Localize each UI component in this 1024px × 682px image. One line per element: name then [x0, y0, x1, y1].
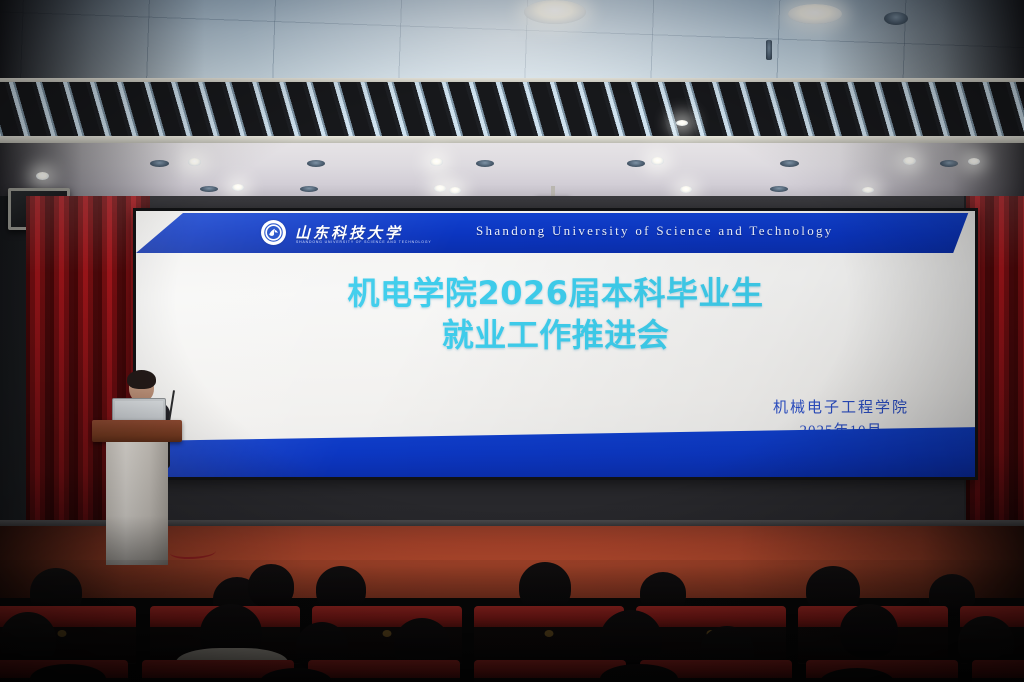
- downlight-icon: [434, 185, 446, 192]
- auditorium-scene: 山东科技大学 SHANDONG UNIVERSITY OF SCIENCE AN…: [0, 0, 1024, 682]
- seat-headrest: [636, 606, 786, 627]
- ceiling-fixture-icon: [476, 160, 494, 167]
- ceiling-sprinkler-icon: [766, 40, 772, 60]
- downlight-icon: [188, 158, 201, 166]
- audience-seat[interactable]: [972, 660, 1024, 682]
- seat-headrest: [972, 660, 1024, 678]
- beam-lip-lower: [0, 136, 1024, 143]
- ceiling-fixture-icon: [627, 160, 645, 167]
- presentation-slide: 山东科技大学 SHANDONG UNIVERSITY OF SCIENCE AN…: [136, 211, 975, 477]
- wooden-podium: [92, 420, 182, 565]
- downlight-icon: [232, 184, 244, 191]
- seat-emblem-icon: [58, 630, 67, 637]
- slide-title: 机电学院2026届本科毕业生 就业工作推进会: [136, 273, 975, 356]
- university-name-en-sub: SHANDONG UNIVERSITY OF SCIENCE AND TECHN…: [296, 240, 432, 244]
- university-seal-icon: [261, 220, 286, 245]
- downlight-icon: [524, 0, 586, 24]
- downlight-icon: [862, 187, 874, 193]
- ceiling-fixture-icon: [780, 160, 799, 167]
- slide-title-line1: 机电学院2026届本科毕业生: [347, 274, 763, 312]
- seat-emblem-icon: [545, 630, 554, 637]
- seat-headrest: [474, 606, 624, 627]
- downlight-icon: [968, 158, 980, 165]
- ceiling-fixture-icon: [770, 186, 788, 192]
- slide-title-line2: 就业工作推进会: [136, 315, 975, 357]
- ceiling-fixture-icon: [884, 12, 908, 25]
- audience-area: [0, 560, 1024, 682]
- downlight-icon: [676, 120, 688, 126]
- podium-shading: [106, 442, 168, 565]
- ceiling-fixture-icon: [200, 186, 218, 192]
- downlight-icon: [788, 4, 842, 24]
- ceiling-fixture-icon: [307, 160, 325, 167]
- laptop-screen: [115, 401, 163, 421]
- downlight-icon: [903, 157, 916, 165]
- presenter-hair: [127, 370, 156, 389]
- audience-head: [0, 612, 56, 666]
- downlight-icon: [680, 186, 692, 193]
- ceiling-fixture-icon: [300, 186, 318, 192]
- projection-screen: 山东科技大学 SHANDONG UNIVERSITY OF SCIENCE AN…: [133, 208, 978, 480]
- ceiling-fixture-icon: [940, 160, 958, 167]
- downlight-icon: [651, 157, 664, 165]
- ceiling-fixture-icon: [150, 160, 169, 167]
- downlight-icon: [36, 172, 49, 180]
- downlight-icon: [449, 187, 461, 194]
- audience-head: [840, 604, 898, 658]
- slide-subtitle-org: 机械电子工程学院: [773, 397, 909, 420]
- podium-surface: [92, 420, 182, 442]
- university-name-en: Shandong University of Science and Techn…: [476, 223, 834, 239]
- seat-headrest: [308, 660, 460, 678]
- beam-slats: [0, 82, 1024, 138]
- audience-head: [519, 562, 571, 612]
- audience-head: [248, 564, 294, 608]
- downlight-icon: [430, 158, 443, 166]
- louvered-ceiling-beam: [0, 82, 1024, 138]
- seat-emblem-icon: [383, 630, 392, 637]
